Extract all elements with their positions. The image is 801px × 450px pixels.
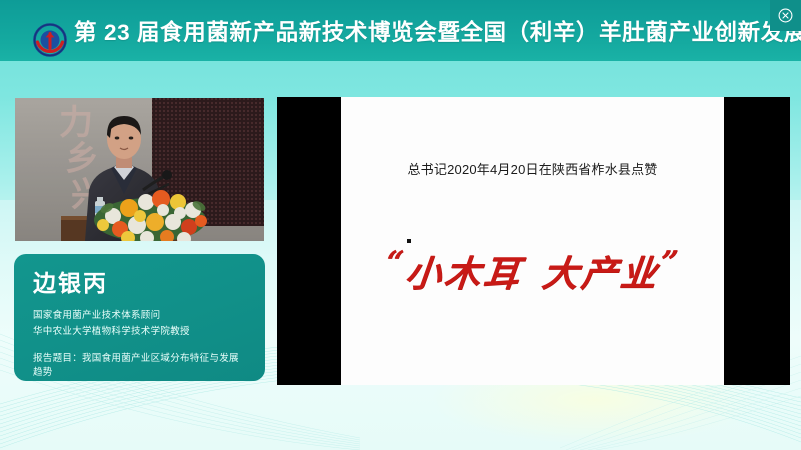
square-bullet-icon xyxy=(407,239,411,243)
speaker-info-card: 边银丙 国家食用菌产业技术体系顾问 华中农业大学植物科学技术学院教授 报告题目：… xyxy=(14,254,265,381)
slide-canvas: 总书记2020年4月20日在陕西省柞水县点赞 “小木耳大产业” xyxy=(341,97,724,385)
conference-header-bar: 第 23 届食用菌新产品新技术博览会暨全国（利辛）羊肚菌产业创新发展大会 xyxy=(0,0,801,61)
speaker-name: 边银丙 xyxy=(33,271,246,296)
quote-close-mark: ” xyxy=(659,245,683,280)
conference-emblem-icon xyxy=(33,23,67,57)
quote-text-part-1: 小木耳 xyxy=(403,253,524,295)
slide-quote: “小木耳大产业” xyxy=(341,245,724,297)
speaker-role-line-2: 华中农业大学植物科学技术学院教授 xyxy=(33,324,246,340)
close-circle-icon xyxy=(778,8,793,23)
presentation-page: 第 23 届食用菌新产品新技术博览会暨全国（利辛）羊肚菌产业创新发展大会 xyxy=(0,0,801,450)
live-speaker-video[interactable]: 力 乡 兴 xyxy=(15,98,264,241)
speaker-topic: 报告题目：我国食用菌产业区域分布特征与发展趋势 xyxy=(33,350,246,378)
page-title: 第 23 届食用菌新产品新技术博览会暨全国（利辛）羊肚菌产业创新发展大会 xyxy=(74,0,801,61)
close-button[interactable] xyxy=(770,0,801,31)
quote-text-part-2: 大产业 xyxy=(540,253,661,295)
slide-subtitle: 总书记2020年4月20日在陕西省柞水县点赞 xyxy=(341,159,724,178)
speaker-role-line-1: 国家食用菌产业技术体系顾问 xyxy=(33,308,246,324)
presentation-slide-area[interactable]: 总书记2020年4月20日在陕西省柞水县点赞 “小木耳大产业” xyxy=(277,97,790,385)
